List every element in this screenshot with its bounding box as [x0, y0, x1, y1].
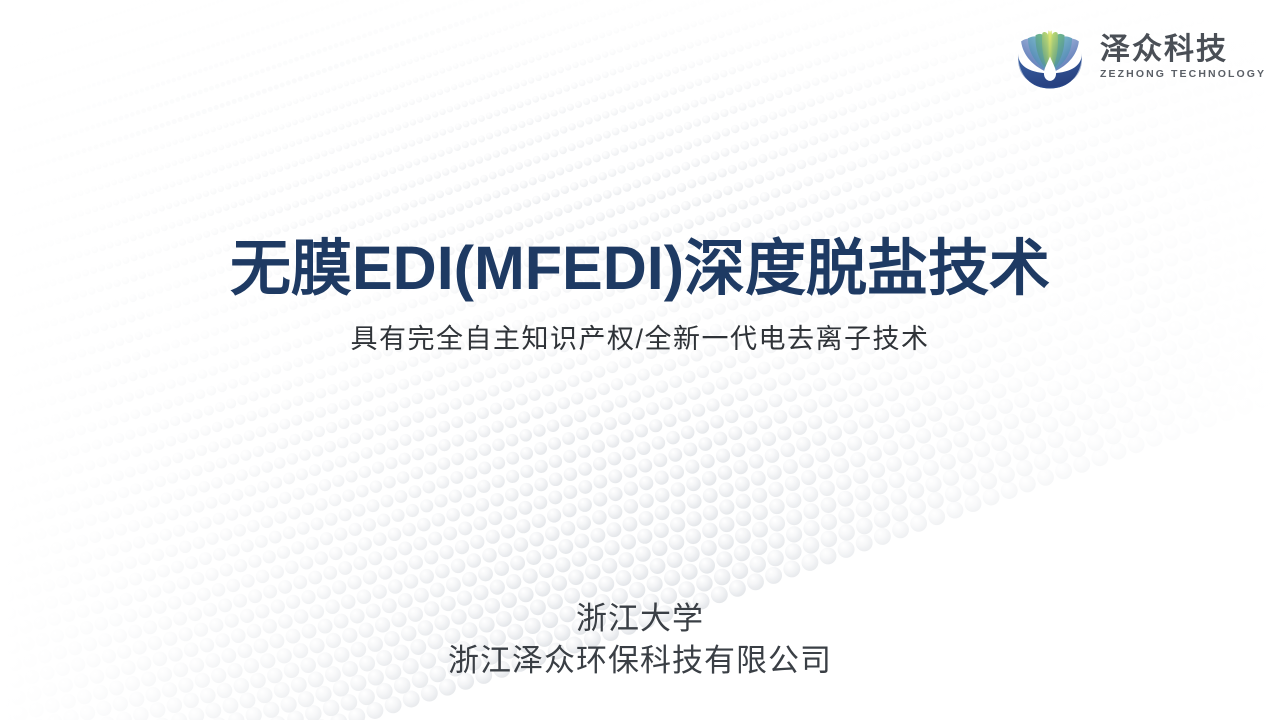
presentation-slide: 泽众科技 ZEZHONG TECHNOLOGY 无膜EDI(MFEDI)深度脱盐… [0, 0, 1280, 720]
brand-name-cn: 泽众科技 [1100, 34, 1228, 66]
brand-logo-wordmark: 泽众科技 ZEZHONG TECHNOLOGY [1100, 30, 1266, 81]
lotus-waterdrop-logo-icon [1012, 20, 1088, 90]
affiliation-line-company: 浙江泽众环保科技有限公司 [0, 640, 1280, 682]
affiliations-block: 浙江大学 浙江泽众环保科技有限公司 [0, 598, 1280, 681]
slide-title: 无膜EDI(MFEDI)深度脱盐技术 [0, 236, 1280, 302]
brand-name-en: ZEZHONG TECHNOLOGY [1100, 68, 1266, 80]
affiliation-line-university: 浙江大学 [0, 598, 1280, 640]
brand-logo: 泽众科技 ZEZHONG TECHNOLOGY [1012, 20, 1266, 90]
headline-block: 无膜EDI(MFEDI)深度脱盐技术 具有完全自主知识产权/全新一代电去离子技术 [0, 236, 1280, 356]
slide-subtitle: 具有完全自主知识产权/全新一代电去离子技术 [0, 317, 1280, 356]
